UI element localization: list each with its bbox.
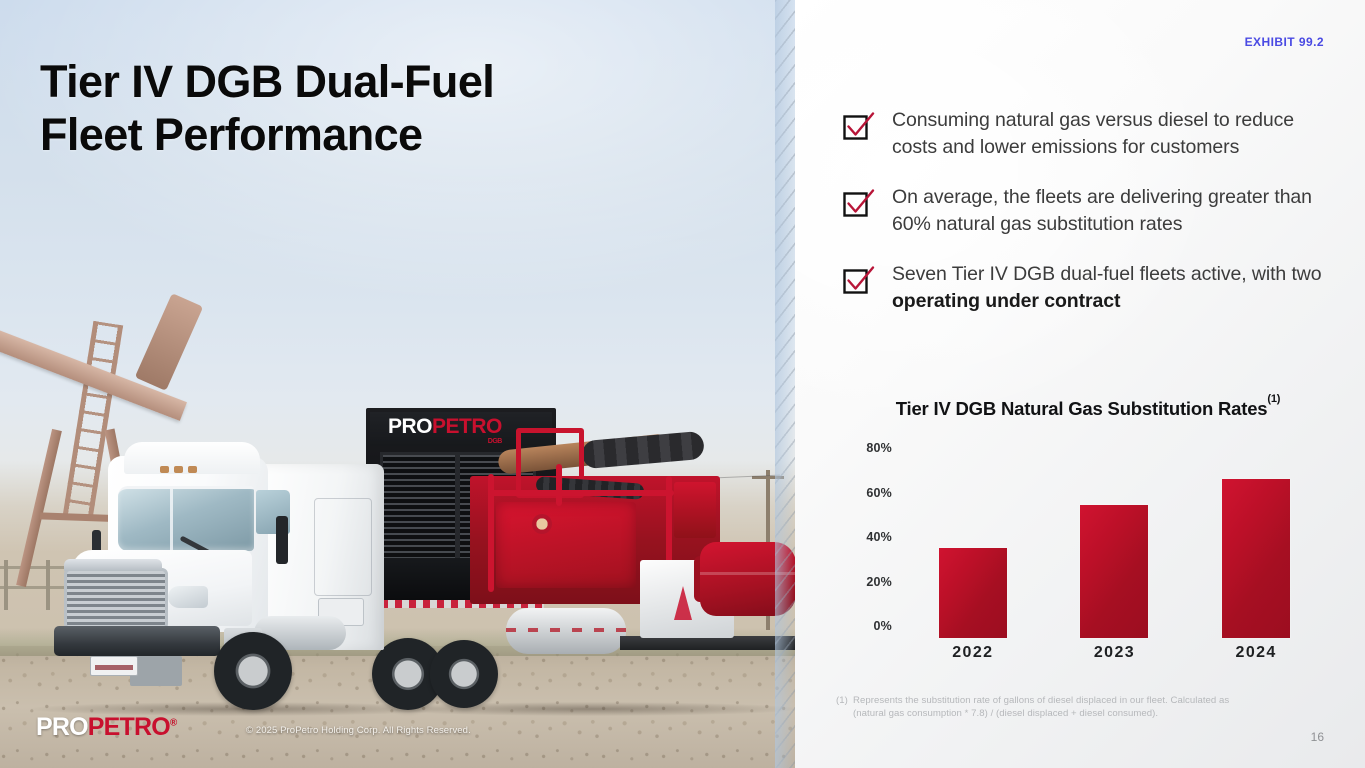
bar-2024 xyxy=(1222,479,1290,638)
list-item-label: Seven Tier IV DGB dual-fuel fleets activ… xyxy=(892,261,1327,315)
list-item-emphasis: operating under contract xyxy=(892,290,1120,312)
y-axis-tick: 0% xyxy=(840,619,892,633)
y-axis-tick: 20% xyxy=(840,575,892,589)
presentation-slide: PROPETRO DGB xyxy=(0,0,1365,768)
chart-title: Tier IV DGB Natural Gas Substitution Rat… xyxy=(795,398,1365,420)
chart-title-footnote-marker: (1) xyxy=(1267,393,1280,405)
copyright-notice: © 2025 ProPetro Holding Corp. All Rights… xyxy=(246,725,471,736)
y-axis: 80% 60% 40% 20% 0% xyxy=(840,448,892,638)
bar-2022 xyxy=(939,548,1007,638)
logo-petro-text: PETRO xyxy=(88,713,170,741)
bar-group xyxy=(1216,479,1296,638)
x-axis-tick: 2022 xyxy=(933,644,1013,672)
y-axis-tick: 40% xyxy=(840,530,892,544)
checkbox-checked-icon xyxy=(843,111,875,141)
list-item: Seven Tier IV DGB dual-fuel fleets activ… xyxy=(843,261,1327,315)
checkbox-checked-icon xyxy=(843,265,875,295)
hero-photo: PROPETRO DGB xyxy=(0,0,795,768)
exhibit-label: EXHIBIT 99.2 xyxy=(1245,35,1324,49)
page-number: 16 xyxy=(1311,730,1324,744)
logo-pro-text: PRO xyxy=(36,713,88,741)
footnote-line-1: Represents the substitution rate of gall… xyxy=(853,695,1229,706)
footnote-line-2: (natural gas consumption * 7.8) / (diese… xyxy=(836,707,1306,720)
list-item-lead: Seven Tier IV DGB dual-fuel fleets activ… xyxy=(892,263,1322,285)
y-axis-tick: 60% xyxy=(840,486,892,500)
x-axis: 2022 2023 2024 xyxy=(902,644,1327,672)
content-panel: EXHIBIT 99.2 Consuming natural gas versu… xyxy=(795,0,1365,768)
bar-chart: 80% 60% 40% 20% 0% 2022 2023 2024 xyxy=(840,448,1335,663)
x-axis-tick: 2023 xyxy=(1074,644,1154,672)
plot-area xyxy=(902,448,1327,638)
registered-trademark-icon: ® xyxy=(170,718,177,729)
trailer-deck xyxy=(620,636,795,650)
checkbox-checked-icon xyxy=(843,188,875,218)
bar-group xyxy=(933,548,1013,638)
semi-truck xyxy=(18,420,438,710)
title-line-2: Fleet Performance xyxy=(40,109,600,162)
x-axis-tick: 2024 xyxy=(1216,644,1296,672)
list-item-label: Consuming natural gas versus diesel to r… xyxy=(892,107,1327,161)
air-tank xyxy=(506,608,626,654)
list-item: On average, the fleets are delivering gr… xyxy=(843,184,1327,238)
y-axis-tick: 80% xyxy=(840,441,892,455)
bar-2023 xyxy=(1080,505,1148,638)
title-line-1: Tier IV DGB Dual-Fuel xyxy=(40,56,600,109)
chart-footnote: (1)Represents the substitution rate of g… xyxy=(836,694,1306,720)
list-item: Consuming natural gas versus diesel to r… xyxy=(843,107,1327,161)
bar-group xyxy=(1074,505,1154,638)
page-title: Tier IV DGB Dual-Fuel Fleet Performance xyxy=(40,56,600,161)
bullet-list: Consuming natural gas versus diesel to r… xyxy=(843,107,1327,337)
chart-title-text: Tier IV DGB Natural Gas Substitution Rat… xyxy=(896,398,1268,419)
footnote-marker: (1) xyxy=(836,694,853,707)
list-item-label: On average, the fleets are delivering gr… xyxy=(892,184,1327,238)
bar-series xyxy=(902,448,1327,638)
propetro-logo: PROPETRO® xyxy=(36,715,176,740)
